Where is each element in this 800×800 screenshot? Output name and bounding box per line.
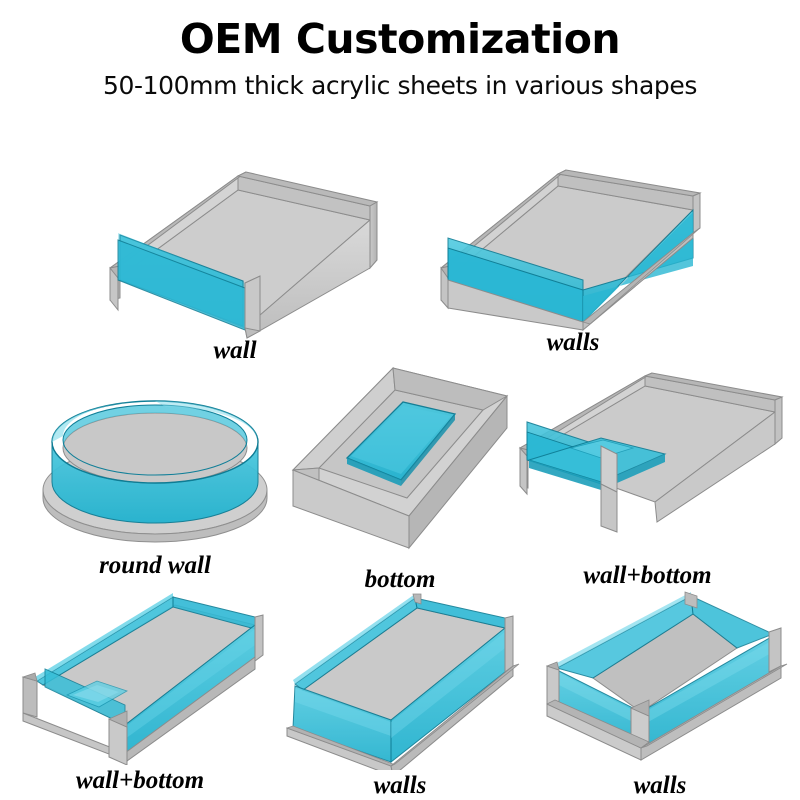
product-item-walls-corners: walls: [525, 590, 795, 800]
illustration-bottom: [285, 358, 515, 558]
illustration-walls-corners: [525, 590, 795, 770]
illustration-wall-bottom-1: [505, 370, 790, 560]
product-label-walls-corners: walls: [525, 772, 795, 800]
page-title: OEM Customization: [0, 18, 800, 61]
product-label-wall-bottom-2: wall+bottom: [5, 767, 275, 795]
product-label-walls-two: walls: [408, 329, 738, 357]
product-item-walls-all: walls: [265, 590, 535, 800]
product-item-bottom: bottom: [285, 358, 515, 594]
page-subtitle: 50-100mm thick acrylic sheets in various…: [0, 71, 800, 101]
oem-customization-poster: OEM Customization 50-100mm thick acrylic…: [0, 0, 800, 800]
illustration-walls-two: [408, 138, 738, 343]
poster-header: OEM Customization 50-100mm thick acrylic…: [0, 0, 800, 101]
product-item-wall-bottom-1: wall+bottom: [505, 370, 790, 590]
product-item-wall: wall: [70, 128, 400, 365]
product-item-round-wall: round wall: [30, 370, 280, 580]
product-item-wall-bottom-2: wall+bottom: [5, 585, 275, 795]
illustration-round-wall: [30, 370, 280, 550]
illustration-wall: [70, 128, 400, 343]
product-item-walls-two: walls: [408, 138, 738, 357]
product-label-wall-bottom-1: wall+bottom: [505, 562, 790, 590]
product-grid: wall: [0, 120, 800, 800]
illustration-walls-all: [265, 590, 535, 770]
product-label-round-wall: round wall: [30, 552, 280, 580]
product-label-walls-all: walls: [265, 772, 535, 800]
illustration-wall-bottom-2: [5, 585, 275, 765]
